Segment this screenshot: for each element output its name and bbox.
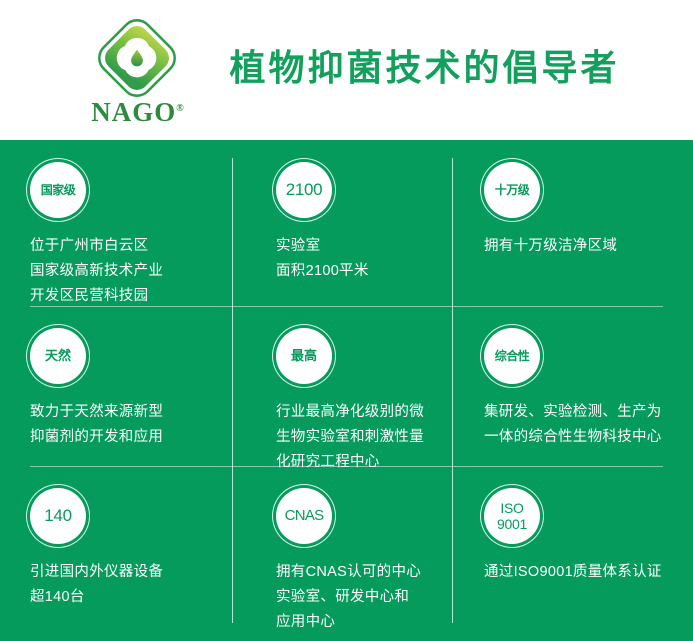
feature-badge: ISO 9001 (484, 488, 540, 544)
feature-cell-9: ISO 9001 通过ISO9001质量体系认证 (452, 466, 693, 641)
feature-badge: 十万级 (484, 162, 540, 218)
features-panel: 国家级 位于广州市白云区 国家级高新技术产业 开发区民营科技园 2100 实验室… (0, 140, 693, 641)
grid-divider-vertical-2 (452, 158, 453, 623)
feature-cell-4: 天然 致力于天然来源新型 抑菌剂的开发和应用 (0, 306, 232, 466)
feature-description: 致力于天然来源新型 抑菌剂的开发和应用 (30, 400, 232, 450)
feature-description: 实验室 面积2100平米 (276, 234, 452, 284)
feature-description: 集研发、实验检测、生产为 一体的综合性生物科技中心 (484, 400, 693, 450)
page-title: 植物抑菌技术的倡导者 (229, 50, 619, 86)
feature-cell-7: 140 引进国内外仪器设备 超140台 (0, 466, 232, 641)
feature-description: 通过ISO9001质量体系认证 (484, 560, 693, 585)
company-logo: NAGO® (81, 16, 193, 124)
feature-badge: 国家级 (30, 162, 86, 218)
feature-description: 拥有CNAS认可的中心 实验室、研发中心和 应用中心 (276, 560, 452, 635)
feature-cell-6: 综合性 集研发、实验检测、生产为 一体的综合性生物科技中心 (452, 306, 693, 466)
nago-flower-logo-icon (95, 16, 179, 100)
feature-badge: 2100 (276, 162, 332, 218)
feature-description: 位于广州市白云区 国家级高新技术产业 开发区民营科技园 (30, 234, 232, 309)
grid-divider-horizontal-2 (30, 466, 663, 467)
features-grid: 国家级 位于广州市白云区 国家级高新技术产业 开发区民营科技园 2100 实验室… (0, 140, 693, 641)
feature-badge: 天然 (30, 328, 86, 384)
feature-badge: 最高 (276, 328, 332, 384)
feature-badge: 140 (30, 488, 86, 544)
feature-description: 行业最高净化级别的微 生物实验室和刺激性量 化研究工程中心 (276, 400, 452, 475)
grid-divider-horizontal-1 (30, 306, 663, 307)
page-header: NAGO® 植物抑菌技术的倡导者 (0, 0, 693, 140)
feature-cell-2: 2100 实验室 面积2100平米 (232, 140, 452, 306)
feature-description: 拥有十万级洁净区域 (484, 234, 693, 259)
feature-description: 引进国内外仪器设备 超140台 (30, 560, 232, 610)
feature-badge: 综合性 (484, 328, 540, 384)
logo-wordmark: NAGO® (81, 99, 193, 126)
feature-cell-1: 国家级 位于广州市白云区 国家级高新技术产业 开发区民营科技园 (0, 140, 232, 306)
registered-trademark-mark: ® (176, 103, 183, 114)
grid-divider-vertical-1 (232, 158, 233, 623)
logo-wordmark-text: NAGO (91, 97, 176, 127)
feature-cell-3: 十万级 拥有十万级洁净区域 (452, 140, 693, 306)
feature-badge: CNAS (276, 488, 332, 544)
feature-cell-5: 最高 行业最高净化级别的微 生物实验室和刺激性量 化研究工程中心 (232, 306, 452, 466)
feature-cell-8: CNAS 拥有CNAS认可的中心 实验室、研发中心和 应用中心 (232, 466, 452, 641)
